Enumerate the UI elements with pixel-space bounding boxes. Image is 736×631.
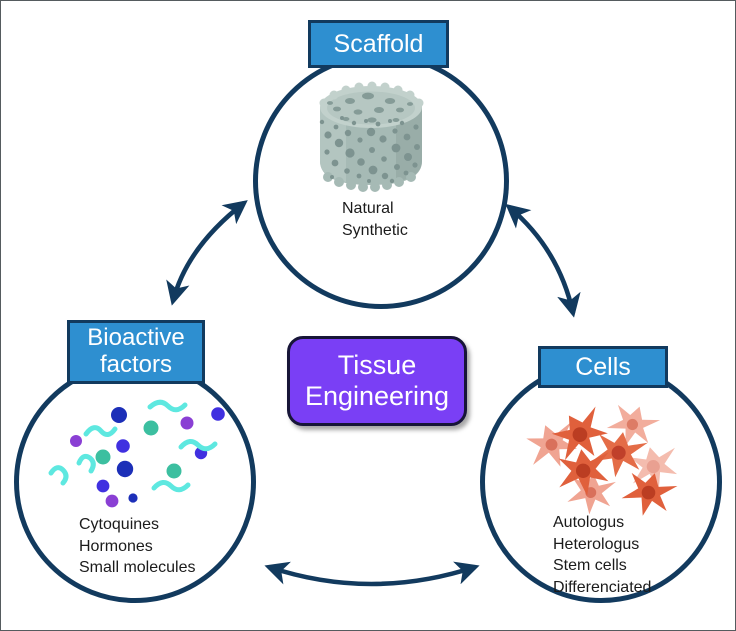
diagram-canvas: Scaffold: [0, 0, 736, 631]
porous-scaffold-cylinder-icon: [306, 77, 436, 193]
header-scaffold[interactable]: Scaffold: [308, 20, 449, 68]
arrow-scaffold-cells: [509, 207, 573, 313]
caption-scaffold: Natural Synthetic: [342, 198, 492, 241]
caption-bioactive-factors: Cytoquines Hormones Small molecules: [79, 514, 269, 579]
header-bioactive-factors[interactable]: Bioactive factors: [67, 320, 205, 384]
arrow-scaffold-bioactive: [173, 203, 244, 301]
fibroblast-cells-icon: [521, 399, 691, 511]
caption-cells: Autologus Heterologus Stem cells Differe…: [553, 512, 723, 598]
center-tissue-engineering-box[interactable]: Tissue Engineering: [287, 336, 467, 426]
arrow-bioactive-cells: [269, 567, 475, 584]
molecules-and-peptides-icon: [34, 401, 239, 506]
header-cells[interactable]: Cells: [538, 346, 668, 388]
